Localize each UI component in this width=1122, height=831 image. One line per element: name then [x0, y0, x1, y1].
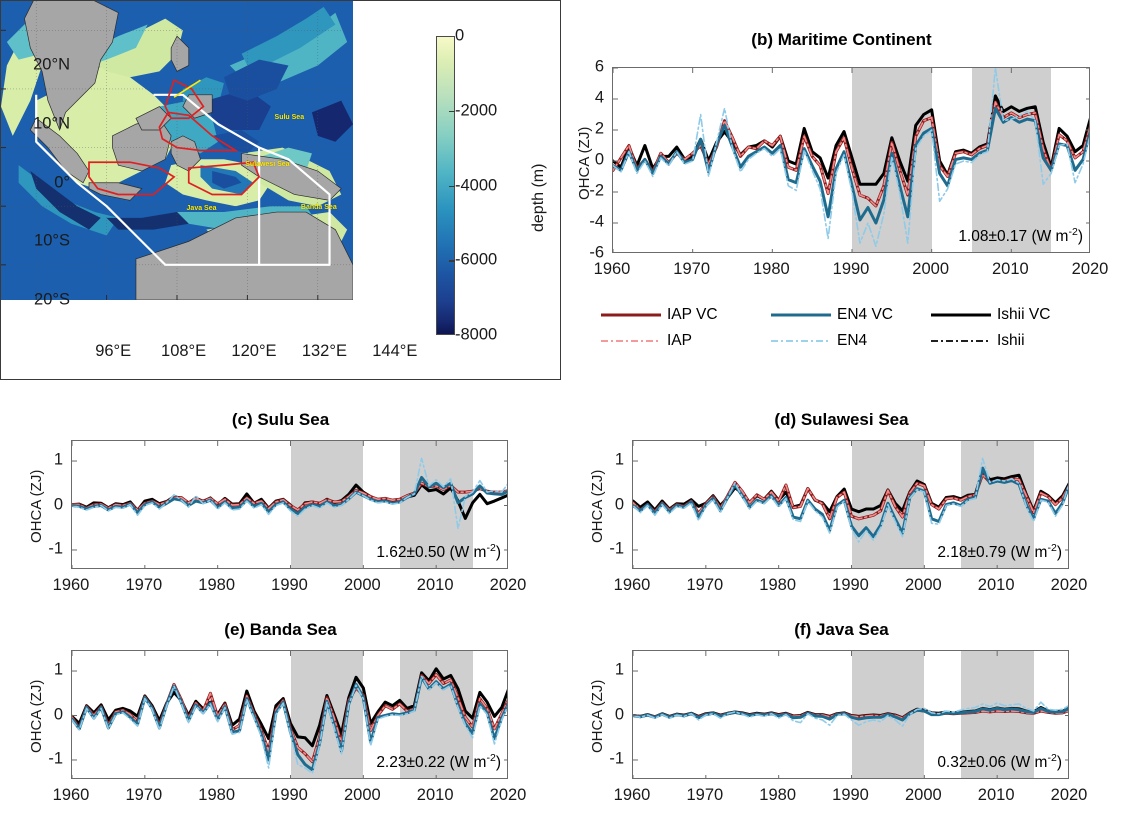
x-tick-label: 1980 — [198, 576, 235, 595]
panel-f-title: (f) Java Sea — [561, 620, 1122, 640]
y-tick-label: 1 — [615, 451, 624, 470]
x-tick-label: 1970 — [686, 576, 723, 595]
panel-b: (b) Maritime Continent 1.08±0.17 (W m-2)… — [561, 0, 1122, 380]
trend-annotation: 1.08±0.17 (W m-2) — [958, 226, 1083, 246]
legend-swatch-en4-vc — [771, 308, 833, 322]
y-tick-label: 1 — [615, 661, 624, 680]
legend-swatch-ishii-vc — [931, 308, 993, 322]
x-tick-label: 1990 — [832, 576, 869, 595]
map-x-tick-label: 120°E — [231, 342, 276, 361]
y-tick-label: 0 — [54, 705, 63, 724]
trend-annotation: 2.18±0.79 (W m-2) — [937, 542, 1062, 562]
y-tick-label: 0 — [595, 151, 604, 170]
map-y-tick-label: 10°N — [8, 114, 70, 133]
map-x-tick-label: 108°E — [161, 342, 206, 361]
panel-e-ylabel: OHCA (ZJ) — [28, 680, 45, 753]
legend-label-ishii-vc: Ishii VC — [997, 306, 1050, 324]
panel-b-ylabel: OHCA (ZJ) — [576, 127, 593, 200]
colorbar-tick-label: -2000 — [455, 101, 497, 120]
x-tick-label: 1960 — [594, 260, 631, 279]
legend-label-iap: IAP — [667, 332, 692, 350]
legend-label-ishii: Ishii — [997, 332, 1025, 350]
x-tick-label: 2020 — [1051, 576, 1088, 595]
plot-area: 0.32±0.06 (W m-2) — [632, 650, 1069, 779]
bathymetry-map[interactable] — [0, 0, 352, 299]
chart-e[interactable]: 2.23±0.22 (W m-2)19601970198019902000201… — [71, 650, 508, 779]
panel-f: (f) Java Sea 0.32±0.06 (W m-2)1960197019… — [561, 618, 1122, 831]
x-tick-label: 2010 — [992, 260, 1029, 279]
map-x-tick-label: 96°E — [95, 342, 131, 361]
y-tick-label: 1 — [54, 451, 63, 470]
panel-e: (e) Banda Sea 2.23±0.22 (W m-2)196019701… — [0, 618, 561, 831]
map-y-tick-label: 10°S — [8, 232, 70, 251]
chart-b[interactable]: 1.08±0.17 (W m-2)19601970198019902000201… — [612, 67, 1090, 253]
chart-f[interactable]: 0.32±0.06 (W m-2)19601970198019902000201… — [632, 650, 1069, 779]
y-tick-label: -1 — [48, 749, 63, 768]
x-tick-label: 1980 — [753, 260, 790, 279]
sea-label-banda-sea: Banda Sea — [301, 204, 337, 211]
legend-swatch-ishii — [931, 334, 993, 348]
y-tick-label: 1 — [54, 661, 63, 680]
colorbar-axis-label: depth (m) — [530, 164, 548, 232]
panel-c: (c) Sulu Sea 1.62±0.50 (W m-2)1960197019… — [0, 408, 561, 620]
y-tick-label: 2 — [595, 120, 604, 139]
x-tick-label: 2010 — [978, 576, 1015, 595]
x-tick-label: 1970 — [686, 786, 723, 805]
x-tick-label: 1960 — [614, 786, 651, 805]
y-tick-label: -6 — [589, 244, 604, 263]
x-tick-label: 2000 — [905, 576, 942, 595]
x-tick-label: 2000 — [344, 576, 381, 595]
legend-label-en4-vc: EN4 VC — [837, 306, 893, 324]
y-tick-label: 4 — [595, 89, 604, 108]
map-x-tick-label: 132°E — [302, 342, 347, 361]
colorbar-tick-mark — [449, 111, 455, 112]
plot-area: 2.18±0.79 (W m-2) — [632, 440, 1069, 569]
series-en4 — [633, 458, 1069, 542]
y-tick-label: -1 — [609, 749, 624, 768]
sea-label-sulawesi-sea: Sulawesi Sea — [245, 161, 289, 168]
y-tick-label: -4 — [589, 213, 604, 232]
map-y-tick-label: 20°N — [8, 56, 70, 75]
sea-label-sulu-sea: Sulu Sea — [275, 114, 305, 121]
x-tick-label: 1990 — [271, 786, 308, 805]
x-tick-label: 2000 — [344, 786, 381, 805]
series-ishii — [633, 471, 1069, 512]
panel-d-ylabel: OHCA (ZJ) — [589, 470, 606, 543]
legend-label-iap-vc: IAP VC — [667, 306, 718, 324]
plot-area: 2.23±0.22 (W m-2) — [71, 650, 508, 779]
legend-swatch-iap-vc — [601, 308, 663, 322]
x-tick-label: 1960 — [53, 576, 90, 595]
trend-annotation: 1.62±0.50 (W m-2) — [376, 542, 501, 562]
map-x-tick-label: 144°E — [372, 342, 417, 361]
y-tick-label: 0 — [615, 495, 624, 514]
chart-c[interactable]: 1.62±0.50 (W m-2)19601970198019902000201… — [71, 440, 508, 569]
panel-c-title: (c) Sulu Sea — [0, 410, 561, 430]
y-tick-label: 0 — [54, 495, 63, 514]
trend-annotation: 0.32±0.06 (W m-2) — [937, 752, 1062, 772]
panel-d: (d) Sulawesi Sea 2.18±0.79 (W m-2)196019… — [561, 408, 1122, 620]
x-tick-label: 1970 — [125, 576, 162, 595]
x-tick-label: 1980 — [759, 576, 796, 595]
x-tick-label: 1980 — [198, 786, 235, 805]
map-y-tick-label: 0° — [8, 173, 70, 192]
x-tick-label: 1960 — [53, 786, 90, 805]
x-tick-label: 2000 — [905, 786, 942, 805]
colorbar-tick-label: -8000 — [455, 326, 497, 345]
legend-label-en4: EN4 — [837, 332, 867, 350]
colorbar-tick-label: -6000 — [455, 251, 497, 270]
x-tick-label: 2000 — [912, 260, 949, 279]
map-y-tick-label: 20°S — [8, 290, 70, 309]
x-tick-label: 1960 — [614, 576, 651, 595]
colorbar-tick-mark — [449, 260, 455, 261]
trend-annotation: 2.23±0.22 (W m-2) — [376, 752, 501, 772]
y-tick-label: 6 — [595, 58, 604, 77]
x-tick-label: 2010 — [978, 786, 1015, 805]
y-tick-label: -1 — [609, 539, 624, 558]
panel-c-ylabel: OHCA (ZJ) — [28, 470, 45, 543]
x-tick-label: 2020 — [490, 576, 527, 595]
x-tick-label: 1970 — [125, 786, 162, 805]
plot-area: 1.62±0.50 (W m-2) — [71, 440, 508, 569]
x-tick-label: 2020 — [490, 786, 527, 805]
colorbar-tick-mark — [449, 186, 455, 187]
x-tick-label: 2010 — [417, 576, 454, 595]
x-tick-label: 1970 — [673, 260, 710, 279]
y-tick-label: 0 — [615, 705, 624, 724]
map-panel: (a) 0-2000-4000-6000-8000 depth (m) 96°E… — [0, 0, 561, 380]
x-tick-label: 1990 — [271, 576, 308, 595]
map-graphic — [1, 1, 353, 300]
series-legend: IAP VCEN4 VCIshii VCIAPEN4Ishii — [601, 300, 1101, 355]
plot-area: 1.08±0.17 (W m-2) — [612, 67, 1090, 253]
sea-label-java-sea: Java Sea — [187, 205, 217, 212]
panel-f-ylabel: OHCA (ZJ) — [589, 680, 606, 753]
x-tick-label: 1990 — [833, 260, 870, 279]
x-tick-label: 1990 — [832, 786, 869, 805]
x-tick-label: 2010 — [417, 786, 454, 805]
y-tick-label: -1 — [48, 539, 63, 558]
x-tick-label: 2020 — [1072, 260, 1109, 279]
colorbar-tick-label: 0 — [455, 27, 464, 46]
colorbar-tick-label: -4000 — [455, 176, 497, 195]
chart-d[interactable]: 2.18±0.79 (W m-2)19601970198019902000201… — [632, 440, 1069, 569]
legend-swatch-iap — [601, 334, 663, 348]
panel-e-title: (e) Banda Sea — [0, 620, 561, 640]
legend-swatch-en4 — [771, 334, 833, 348]
panel-b-title: (b) Maritime Continent — [561, 30, 1122, 50]
x-tick-label: 2020 — [1051, 786, 1088, 805]
panel-d-title: (d) Sulawesi Sea — [561, 410, 1122, 430]
x-tick-label: 1980 — [759, 786, 796, 805]
